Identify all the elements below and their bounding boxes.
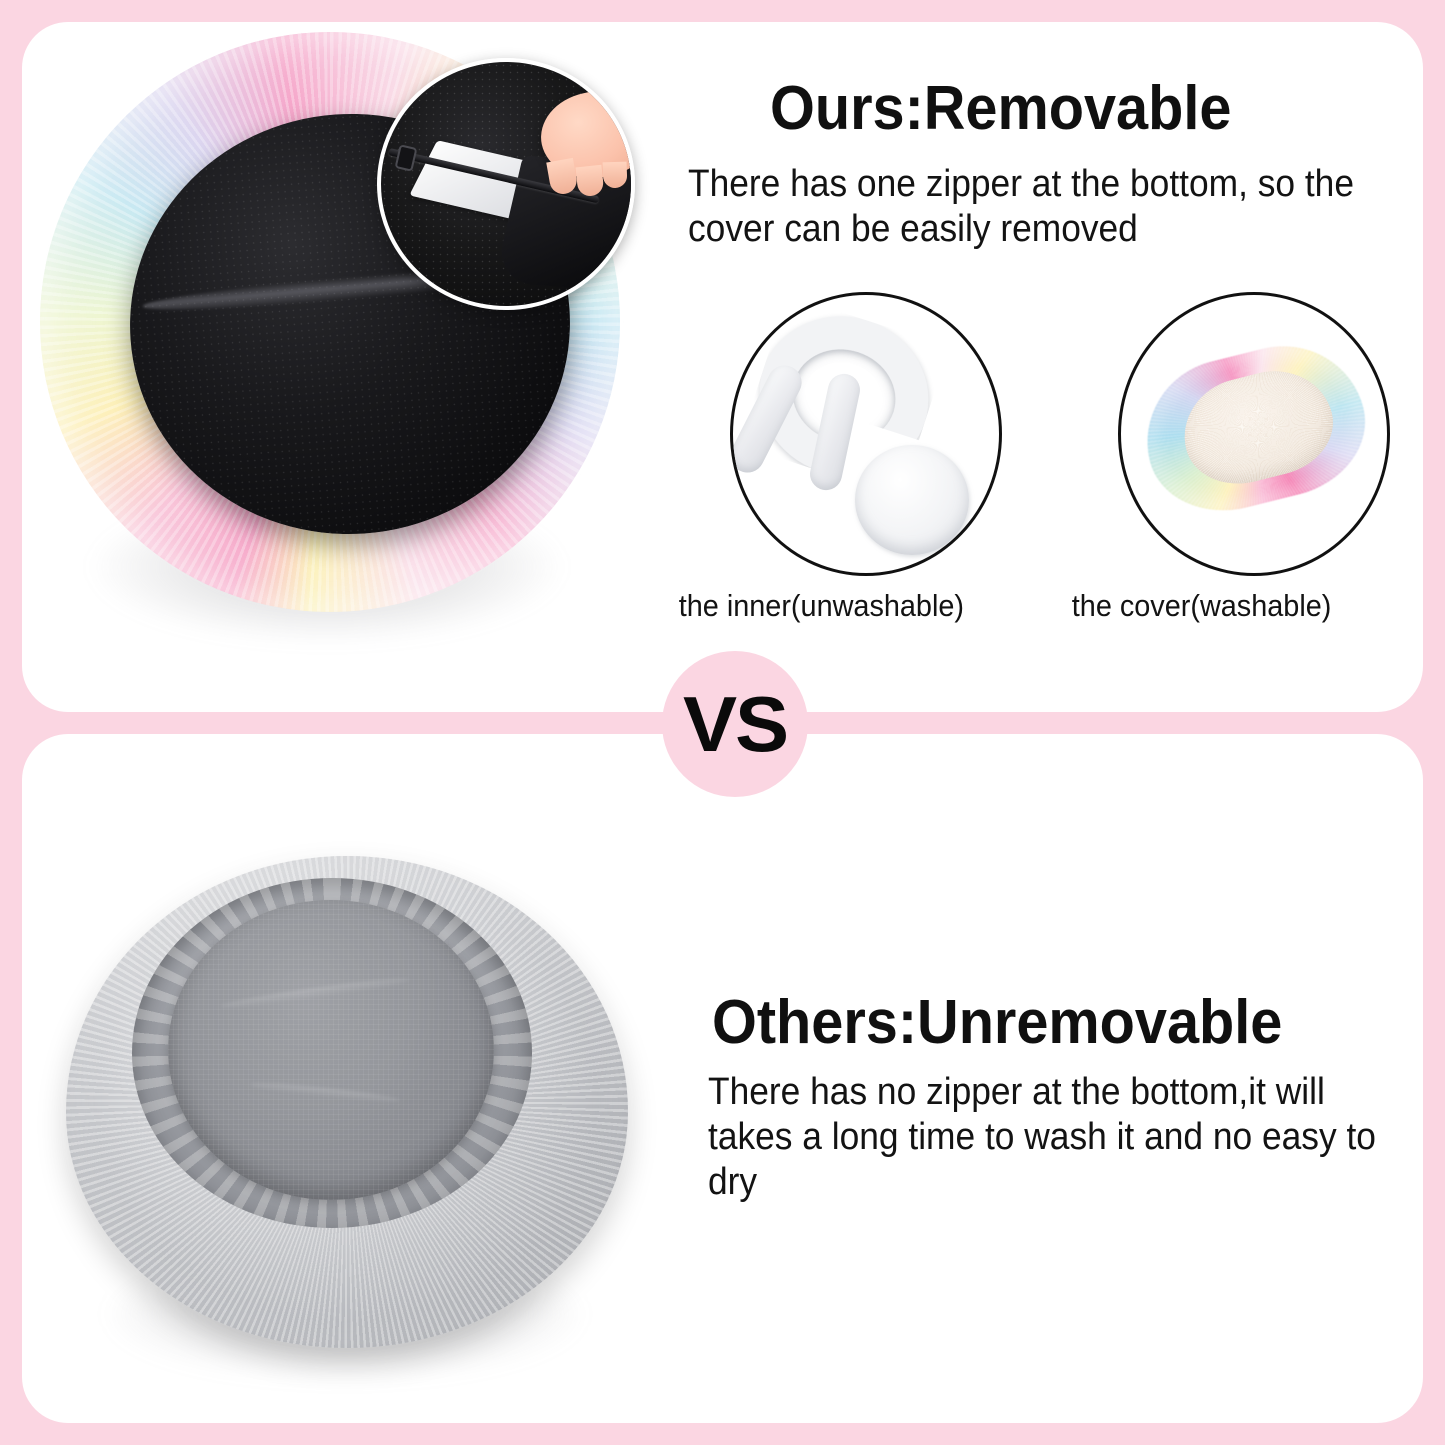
zipper-detail-circle	[377, 58, 635, 310]
rainbow-cover-circle	[1118, 292, 1390, 576]
round-cushion-pad	[855, 445, 969, 555]
ours-panel: Ours:Removable There has one zipper at t…	[22, 22, 1423, 712]
vs-label: VS	[683, 685, 787, 763]
cover-edge-softener	[1130, 329, 1380, 528]
inner-caption: the inner(unwashable)	[679, 588, 964, 624]
others-description: There has no zipper at the bottom,it wil…	[708, 1070, 1378, 1204]
vs-badge: VS	[662, 651, 808, 797]
fixed-grey-cushion	[168, 900, 494, 1200]
grey-pet-bed-image	[40, 838, 660, 1398]
inner-cushion-circle	[730, 292, 1002, 576]
others-heading: Others:Unremovable	[712, 992, 1282, 1054]
ours-description: There has one zipper at the bottom, so t…	[688, 162, 1376, 252]
ours-heading: Ours:Removable	[770, 78, 1231, 140]
cover-caption: the cover(washable)	[1072, 588, 1332, 624]
